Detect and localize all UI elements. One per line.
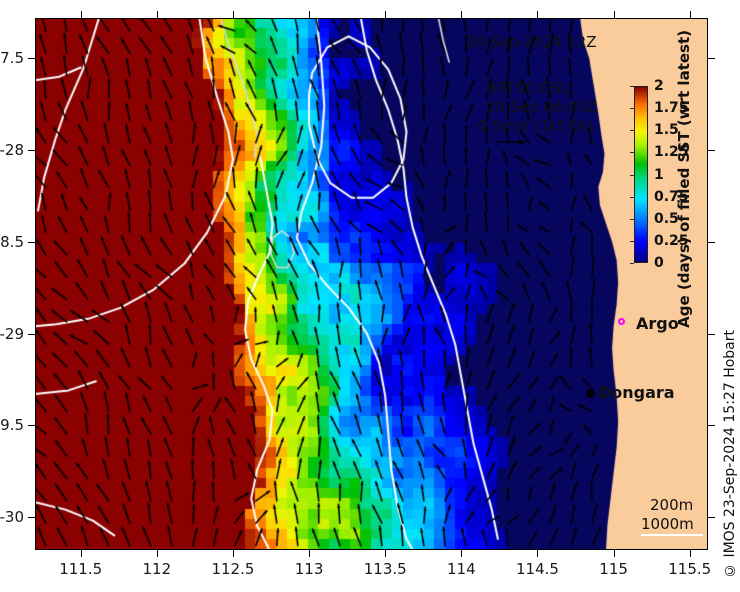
colorbar-tick bbox=[630, 152, 634, 153]
colorbar-tick bbox=[630, 219, 634, 220]
colorbar[interactable]: 00.250.50.7511.251.51.752 bbox=[634, 86, 648, 263]
bathymetry-label-1000m: 1000m bbox=[641, 515, 694, 533]
x-tick bbox=[233, 550, 234, 557]
colorbar-tick bbox=[630, 241, 634, 242]
y-tick bbox=[708, 58, 715, 59]
y-tick bbox=[28, 242, 35, 243]
x-tick-label: 111.5 bbox=[59, 560, 102, 578]
x-tick bbox=[614, 550, 615, 557]
y-tick bbox=[28, 425, 35, 426]
y-tick-label: -28.5 bbox=[0, 233, 24, 251]
figure-root: 20-Sep-2024 12Z NRT00 GSL 20-Sep 06:00Z … bbox=[0, 0, 740, 592]
x-tick bbox=[309, 11, 310, 18]
colorbar-gradient bbox=[634, 86, 648, 263]
x-tick bbox=[537, 11, 538, 18]
credit-text: © IMOS 23-Sep-2024 15:27 Hobart bbox=[722, 330, 738, 578]
velocity-legend-source: NRT00 GSL bbox=[486, 79, 569, 97]
y-tick bbox=[708, 334, 715, 335]
x-tick bbox=[461, 11, 462, 18]
x-tick bbox=[81, 550, 82, 557]
y-tick bbox=[28, 334, 35, 335]
y-tick bbox=[708, 425, 715, 426]
colorbar-tick bbox=[630, 263, 634, 264]
y-tick bbox=[28, 58, 35, 59]
x-tick bbox=[537, 550, 538, 557]
x-tick bbox=[690, 550, 691, 557]
y-tick bbox=[28, 517, 35, 518]
bathymetry-legend-rule bbox=[641, 534, 703, 536]
colorbar-tick bbox=[630, 108, 634, 109]
bathymetry-label-200m: 200m bbox=[650, 496, 693, 514]
x-tick-label: 114 bbox=[447, 560, 476, 578]
x-tick bbox=[385, 11, 386, 18]
colorbar-tick-label: 1 bbox=[654, 167, 664, 183]
y-tick-label: -27.5 bbox=[0, 49, 24, 67]
argo-marker-icon[interactable] bbox=[618, 318, 625, 325]
x-tick bbox=[233, 11, 234, 18]
colorbar-tick-label: 2 bbox=[654, 78, 664, 94]
x-tick bbox=[461, 550, 462, 557]
x-tick-label: 114.5 bbox=[516, 560, 559, 578]
x-tick-label: 112.5 bbox=[211, 560, 254, 578]
x-tick bbox=[309, 550, 310, 557]
x-tick-label: 113 bbox=[295, 560, 324, 578]
contours-and-vectors-canvas bbox=[35, 18, 708, 550]
y-tick bbox=[28, 150, 35, 151]
colorbar-tick bbox=[630, 197, 634, 198]
colorbar-tick bbox=[630, 130, 634, 131]
velocity-legend-time: 20-Sep 06:00Z bbox=[486, 98, 597, 116]
x-tick bbox=[157, 550, 158, 557]
colorbar-title: Age (days) of filled SST (wrt latest) bbox=[675, 30, 693, 328]
x-tick-label: 112 bbox=[142, 560, 171, 578]
colorbar-tick bbox=[630, 86, 634, 87]
map-plot-area[interactable] bbox=[35, 18, 708, 550]
x-tick bbox=[614, 11, 615, 18]
map-date-title: 20-Sep-2024 12Z bbox=[466, 33, 597, 51]
y-tick-label: -29 bbox=[0, 325, 24, 343]
velocity-legend-scale: 0.5m/s (1kt 6h) bbox=[478, 117, 594, 135]
x-tick bbox=[81, 11, 82, 18]
colorbar-tick bbox=[630, 175, 634, 176]
x-tick-label: 113.5 bbox=[364, 560, 407, 578]
y-tick-label: -30 bbox=[0, 508, 24, 526]
colorbar-tick-label: 0 bbox=[654, 255, 664, 271]
x-tick-label: 115 bbox=[599, 560, 628, 578]
x-tick bbox=[690, 11, 691, 18]
x-tick bbox=[385, 550, 386, 557]
dongara-marker-icon[interactable] bbox=[586, 389, 595, 398]
dongara-label: Dongara bbox=[598, 383, 675, 402]
y-tick bbox=[708, 242, 715, 243]
right-arrow-icon bbox=[496, 137, 526, 147]
y-tick bbox=[708, 517, 715, 518]
y-tick-label: -29.5 bbox=[0, 416, 24, 434]
x-tick-label: 115.5 bbox=[668, 560, 711, 578]
x-tick bbox=[157, 11, 158, 18]
argo-label: Argo bbox=[636, 314, 679, 333]
y-tick-label: -28 bbox=[0, 141, 24, 159]
y-tick bbox=[708, 150, 715, 151]
